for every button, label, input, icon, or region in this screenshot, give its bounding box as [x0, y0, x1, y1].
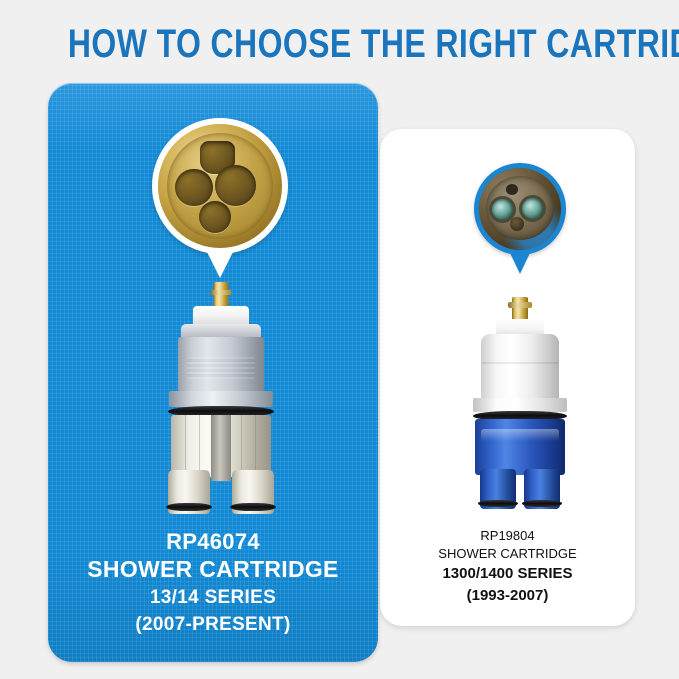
shower-cartridge-gray-icon [160, 282, 282, 514]
infographic-stage: HOW TO CHOOSE THE RIGHT CARTRIDGE? [0, 0, 679, 679]
callout-left-tail [207, 252, 233, 278]
right-product-name: SHOWER CARTRIDGE [380, 545, 635, 563]
callout-right-tail [510, 253, 530, 274]
shower-cartridge-blue-icon [472, 297, 568, 509]
right-part-number: RP19804 [380, 527, 635, 545]
left-years: (2007-PRESENT) [48, 611, 378, 638]
page-title: HOW TO CHOOSE THE RIGHT CARTRIDGE? [68, 22, 611, 67]
right-years: (1993-2007) [380, 585, 635, 607]
callout-left [152, 118, 288, 254]
brass-valve-seat-icon [152, 118, 288, 254]
left-part-number: RP46074 [48, 528, 378, 555]
left-series: 13/14 SERIES [48, 584, 378, 611]
caption-left: RP46074 SHOWER CARTRIDGE 13/14 SERIES (2… [48, 528, 378, 638]
caption-right: RP19804 SHOWER CARTRIDGE 1300/1400 SERIE… [380, 527, 635, 607]
left-product-name: SHOWER CARTRIDGE [48, 555, 378, 584]
corroded-valve-body-icon [474, 163, 566, 255]
right-series: 1300/1400 SERIES [380, 563, 635, 585]
callout-right [474, 163, 566, 255]
